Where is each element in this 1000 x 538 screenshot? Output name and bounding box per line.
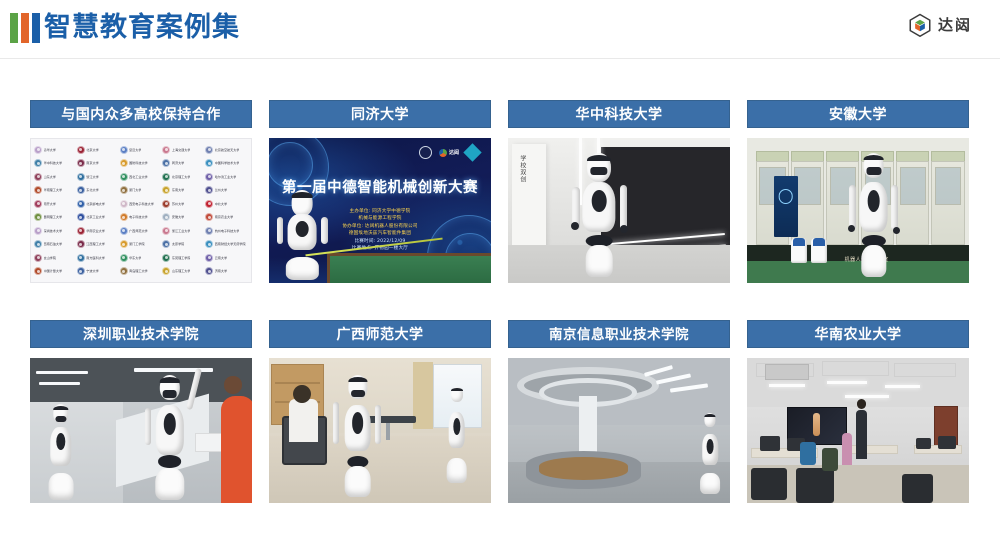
university-seal-icon — [120, 146, 128, 154]
university-name: 北京航空航天大学 — [215, 148, 240, 152]
university-logo-item: 宁波大学 — [77, 265, 120, 279]
robot-arm-left — [277, 217, 283, 244]
university-name: 济南大学 — [215, 269, 227, 273]
university-seal-icon — [120, 200, 128, 208]
university-seal-icon — [34, 213, 42, 221]
university-name: 昆明理工大学 — [44, 215, 63, 219]
university-logo-item: 浙江大学 — [77, 170, 120, 184]
university-name: 深圳技术大学 — [44, 229, 63, 233]
lab-roll-up-banner — [774, 176, 798, 237]
university-logo-item: 浙江工业大学 — [162, 224, 205, 238]
university-seal-icon — [205, 146, 213, 154]
university-logo-item: 南开大学 — [34, 197, 77, 211]
university-logo-item: 东北大学 — [77, 184, 120, 198]
robot-arm-right — [321, 217, 327, 244]
case-card-njcit[interactable]: 南京信息职业技术学院 — [508, 320, 730, 503]
university-seal-icon — [77, 267, 85, 275]
university-seal-icon — [205, 240, 213, 248]
university-logo-item: 上海交通大学 — [162, 143, 205, 157]
case-card-gxnu[interactable]: 广西师范大学 — [269, 320, 491, 503]
university-logo-item: 厦门大学 — [120, 184, 163, 198]
robot-chest-light — [296, 221, 309, 237]
university-seal-icon — [77, 213, 85, 221]
university-seal-icon — [162, 159, 170, 167]
university-name: 山东大学 — [44, 175, 56, 179]
university-name: 中国计量大学 — [44, 269, 63, 273]
university-logo-item: 山东理工大学 — [162, 265, 205, 279]
university-seal-icon — [205, 173, 213, 181]
university-logo-item: 太原学院 — [162, 238, 205, 252]
cloudminds-logo-icon: 达闼 — [439, 149, 459, 157]
university-name: 西南石油大学 — [44, 242, 63, 246]
robot-chest-light — [867, 190, 880, 212]
university-name: 江西理工大学 — [86, 242, 105, 246]
robot-arm-right — [891, 185, 897, 230]
university-logo-item: 电子科技大学 — [120, 211, 163, 225]
card-media-szpt — [30, 358, 252, 503]
robot-left — [39, 404, 82, 500]
robot-hand-left — [848, 225, 855, 232]
seated-student-1 — [800, 442, 816, 465]
university-name: 中国科学技术大学 — [215, 161, 240, 165]
university-logo-item: 中国计量大学 — [34, 265, 77, 279]
work-table — [195, 433, 223, 452]
university-seal-icon — [162, 213, 170, 221]
university-logo-item: 广西师范大学 — [120, 224, 163, 238]
university-logo-item: 西南石油大学 — [34, 238, 77, 252]
university-logo-item: 兰州大学 — [205, 184, 248, 198]
university-seal-icon — [77, 227, 85, 235]
small-robot-1 — [791, 238, 807, 263]
university-name: 宁波大学 — [86, 269, 98, 273]
university-seal-icon — [120, 213, 128, 221]
university-logo-item: 西安电子科技大学 — [120, 197, 163, 211]
university-seal-icon — [205, 227, 213, 235]
university-name: 东南大学 — [172, 188, 184, 192]
university-seal-icon — [162, 227, 170, 235]
university-logo-item: 华东大学 — [120, 251, 163, 265]
university-seal-icon — [34, 159, 42, 167]
standing-presenter — [856, 410, 867, 459]
university-seal-icon — [120, 159, 128, 167]
robot-arm-left — [849, 185, 855, 230]
robot-visor — [162, 390, 177, 397]
robot-legs — [586, 245, 613, 277]
university-logo-item: 杭州电子科技大学 — [205, 224, 248, 238]
university-seal-icon — [205, 254, 213, 262]
university-name: 文山学院 — [44, 256, 56, 260]
university-name: 南京大学 — [86, 161, 98, 165]
university-logo-item: 北京大学 — [77, 143, 120, 157]
university-seal-icon — [205, 213, 213, 221]
university-name: 北京邮电大学 — [86, 202, 105, 206]
university-name: 北京大学 — [86, 148, 98, 152]
right-photo-panel — [123, 358, 252, 503]
card-title-hust: 华中科技大学 — [508, 100, 730, 128]
robot-visor — [866, 167, 881, 174]
case-card-ahu[interactable]: 安徽大学 机器人运动 — [747, 100, 969, 283]
robot-waist — [158, 455, 182, 467]
university-seal-icon — [162, 146, 170, 154]
university-name: 北京理工大学 — [172, 175, 191, 179]
hexagon-cube-logo-icon — [908, 13, 932, 37]
card-media-ahu: 机器人运动实验室 — [747, 138, 969, 283]
university-name: 电子科技大学 — [129, 215, 148, 219]
university-logo-item: 安徽大学 — [162, 211, 205, 225]
robot-base — [155, 468, 184, 500]
university-seal-icon — [77, 159, 85, 167]
university-logo-item: 复旦大学 — [120, 143, 163, 157]
university-name: 西南财经大学天府学院 — [215, 242, 246, 246]
university-name: 华中科技大学 — [44, 161, 63, 165]
card-media-njcit — [508, 358, 730, 503]
university-seal-icon — [77, 240, 85, 248]
university-logo-item: 华南农业大学 — [77, 224, 120, 238]
card-media-partners: 清华大学北京大学复旦大学上海交通大学北京航空航天大学华中科技大学南京大学国防科技… — [30, 138, 252, 283]
university-seal-icon — [205, 200, 213, 208]
brand-name: 达闼 — [938, 13, 972, 37]
university-name: 兰州大学 — [215, 188, 227, 192]
university-logo-item: 北京航空航天大学 — [205, 143, 248, 157]
university-logo-item: 中北大学 — [205, 197, 248, 211]
robot-in-lab-image: 机器人运动实验室 — [747, 138, 969, 283]
university-logo-item: 清华大学 — [34, 143, 77, 157]
two-robots-lab-image — [30, 358, 252, 503]
card-media-gxnu — [269, 358, 491, 503]
accent-bar-green — [10, 13, 18, 43]
university-name: 杭州电子科技大学 — [215, 229, 240, 233]
hallway-robot — [566, 153, 633, 278]
university-logo-item: 苏州大学 — [162, 197, 205, 211]
atrium-robot — [694, 413, 725, 494]
university-logo-item: 同济大学 — [162, 157, 205, 171]
university-name: 山东理工大学 — [172, 269, 191, 273]
poster-robot — [273, 190, 331, 280]
card-media-hust: 学校双创 — [508, 138, 730, 283]
case-card-scau[interactable]: 华南农业大学 — [747, 320, 969, 503]
slide-page: 智慧教育案例集 达闼 与国内众多高校保持合作 清华大学北京大学复旦大学上海交通大… — [0, 0, 1000, 538]
university-logo-item: 青岛理工大学 — [120, 265, 163, 279]
university-name: 东北大学 — [86, 188, 98, 192]
university-seal-icon — [162, 240, 170, 248]
university-name: 南方医科大学 — [86, 256, 105, 260]
card-title-scau: 华南农业大学 — [747, 320, 969, 348]
chair-front-left — [751, 468, 787, 500]
university-seal-icon — [34, 186, 42, 194]
robot-hand-right — [893, 227, 900, 234]
university-seal-icon — [120, 267, 128, 275]
robot-head — [704, 413, 715, 427]
university-name: 华东大学 — [129, 256, 141, 260]
robot-head — [451, 387, 463, 402]
university-logo-item: 国防科技大学 — [120, 157, 163, 171]
university-logo-wall: 清华大学北京大学复旦大学上海交通大学北京航空航天大学华中科技大学南京大学国防科技… — [30, 138, 252, 283]
university-seal-icon — [205, 186, 213, 194]
monitor-4 — [916, 438, 932, 450]
university-logo-item: 东南大学 — [162, 184, 205, 198]
university-name: 西北工业大学 — [129, 175, 148, 179]
monitor-1 — [760, 436, 780, 451]
card-title-gxnu: 广西师范大学 — [269, 320, 491, 348]
robot-in-hallway-image: 学校双创 — [508, 138, 730, 283]
university-name: 安徽大学 — [172, 215, 184, 219]
university-seal-icon — [120, 254, 128, 262]
robot-background — [440, 387, 473, 483]
robot-base — [700, 473, 720, 494]
card-title-partners: 与国内众多高校保持合作 — [30, 100, 252, 128]
university-seal-icon — [162, 186, 170, 194]
partner-diamond-logo-icon — [463, 143, 481, 161]
university-seal-icon — [120, 173, 128, 181]
university-name: 南京农业大学 — [215, 215, 234, 219]
seated-student — [289, 399, 318, 443]
university-logo-item: 厦门工学院 — [120, 238, 163, 252]
air-conditioner-vent — [765, 364, 809, 380]
university-logo-item: 哈尔滨工业大学 — [205, 170, 248, 184]
university-name: 哈尔滨工业大学 — [215, 175, 237, 179]
university-name: 浙江大学 — [86, 175, 98, 179]
desk-row-mid — [845, 445, 898, 454]
page-header: 智慧教育案例集 达闼 — [0, 0, 1000, 58]
university-name: 华南理工大学 — [44, 188, 63, 192]
university-name: 北京工业大学 — [86, 215, 105, 219]
card-title-tongji: 同济大学 — [269, 100, 491, 128]
tongji-seal-icon — [419, 146, 432, 159]
university-logo-item: 西南财经大学天府学院 — [205, 238, 248, 252]
accent-bars — [10, 13, 40, 43]
university-logo-item: 西北工业大学 — [120, 170, 163, 184]
robot-visor — [590, 167, 607, 174]
robot-base — [286, 257, 318, 280]
university-logo-item: 北京邮电大学 — [77, 197, 120, 211]
wooden-counter — [539, 457, 628, 480]
brand-logo: 达闼 — [908, 13, 972, 37]
university-logo-item: 南方医科大学 — [77, 251, 120, 265]
robot-arm-right — [375, 405, 381, 444]
university-seal-icon — [34, 254, 42, 262]
university-seal-icon — [77, 146, 85, 154]
university-name: 中北大学 — [215, 202, 227, 206]
ceiling-light-panels — [641, 367, 721, 402]
university-name: 上海交通大学 — [172, 148, 191, 152]
accent-bar-orange — [21, 13, 29, 43]
university-name: 华南农业大学 — [86, 229, 105, 233]
robot-chest-light — [352, 412, 364, 434]
computer-classroom-image — [747, 358, 969, 503]
university-seal-icon — [34, 227, 42, 235]
robot-chest-light — [707, 439, 714, 454]
university-name: 复旦大学 — [129, 148, 141, 152]
university-logo-item: 南京农业大学 — [205, 211, 248, 225]
university-name: 东莞理工学院 — [172, 256, 191, 260]
university-name: 浙江工业大学 — [172, 229, 191, 233]
university-seal-icon — [77, 254, 85, 262]
child-attendee — [842, 433, 852, 465]
ceiling — [30, 358, 123, 402]
university-logo-item: 深圳技术大学 — [34, 224, 77, 238]
university-seal-icon — [205, 267, 213, 275]
case-card-grid: 与国内众多高校保持合作 清华大学北京大学复旦大学上海交通大学北京航空航天大学华中… — [30, 100, 970, 503]
university-name: 厦门工学院 — [129, 242, 144, 246]
robot-legs — [861, 245, 886, 277]
university-seal-icon — [120, 186, 128, 194]
university-logo-item: 昆明理工大学 — [34, 211, 77, 225]
competition-poster-image: 达闼 第一届中德智能机械创新大赛 主办单位: 同济大学中德学院 机械与能源工程学… — [269, 138, 491, 283]
university-seal-icon — [120, 227, 128, 235]
case-card-szpt[interactable]: 深圳职业技术学院 — [30, 320, 252, 503]
university-logo-item: 中国科学技术大学 — [205, 157, 248, 171]
robot-base — [344, 466, 371, 498]
university-name: 西安电子科技大学 — [129, 202, 154, 206]
university-logo-item: 北京工业大学 — [77, 211, 120, 225]
university-seal-icon — [162, 200, 170, 208]
left-photo-panel — [30, 358, 123, 503]
university-seal-icon — [120, 240, 128, 248]
university-name: 厦门大学 — [129, 188, 141, 192]
university-name: 苏州大学 — [172, 202, 184, 206]
university-logo-item: 北京理工大学 — [162, 170, 205, 184]
hallway-vertical-caption: 学校双创 — [517, 155, 526, 183]
small-robot-2 — [811, 238, 827, 263]
university-seal-icon — [162, 173, 170, 181]
header-divider — [0, 58, 1000, 59]
card-media-scau — [747, 358, 969, 503]
university-name: 国防科技大学 — [129, 161, 148, 165]
university-logo-item: 济南大学 — [205, 265, 248, 279]
robot-head — [292, 190, 313, 215]
card-title-szpt: 深圳职业技术学院 — [30, 320, 252, 348]
university-name: 清华大学 — [44, 148, 56, 152]
billiard-table — [327, 253, 491, 283]
university-seal-icon — [162, 267, 170, 275]
robots-in-classroom-image — [269, 358, 491, 503]
robot-arm-right — [620, 185, 627, 230]
robot-arm-left — [145, 408, 151, 445]
university-name: 青岛理工大学 — [129, 269, 148, 273]
lab-robot — [845, 153, 903, 278]
robot-foreground — [331, 375, 384, 497]
university-logo-item: 江西理工大学 — [77, 238, 120, 252]
university-seal-icon — [77, 186, 85, 194]
chair-front-right — [902, 474, 933, 503]
robot-right — [141, 375, 198, 500]
university-logo-item: 南京大学 — [77, 157, 120, 171]
university-seal-icon — [162, 254, 170, 262]
curtain — [413, 362, 433, 429]
card-title-ahu: 安徽大学 — [747, 100, 969, 128]
university-seal-icon — [34, 200, 42, 208]
poster-logo-row: 达闼 — [419, 146, 479, 159]
page-title: 智慧教育案例集 — [44, 8, 240, 48]
university-logo-item: 云南大学 — [205, 251, 248, 265]
robot-base — [446, 458, 467, 483]
university-seal-icon — [205, 159, 213, 167]
university-logo-item: 华中科技大学 — [34, 157, 77, 171]
university-name: 同济大学 — [172, 161, 184, 165]
chair-front-mid — [796, 468, 834, 503]
case-card-tongji[interactable]: 同济大学 达闼 第一届中德智能机械创新大赛 主办单位: 同济大学中德学院 — [269, 100, 491, 283]
university-seal-icon — [34, 173, 42, 181]
university-logo-item: 东莞理工学院 — [162, 251, 205, 265]
university-seal-icon — [34, 267, 42, 275]
robot-chest-light — [592, 190, 607, 212]
university-logo-item: 山东大学 — [34, 170, 77, 184]
accent-bar-blue — [32, 13, 40, 43]
university-name: 南开大学 — [44, 202, 56, 206]
case-card-hust[interactable]: 华中科技大学 学校双创 — [508, 100, 730, 283]
university-logo-item: 文山学院 — [34, 251, 77, 265]
university-name: 太原学院 — [172, 242, 184, 246]
card-title-njcit: 南京信息职业技术学院 — [508, 320, 730, 348]
university-logo-item: 华南理工大学 — [34, 184, 77, 198]
case-card-partners[interactable]: 与国内众多高校保持合作 清华大学北京大学复旦大学上海交通大学北京航空航天大学华中… — [30, 100, 252, 283]
robot-visor — [55, 416, 66, 422]
university-name: 广西师范大学 — [129, 229, 148, 233]
university-seal-icon — [77, 173, 85, 181]
university-seal-icon — [34, 146, 42, 154]
university-seal-icon — [77, 200, 85, 208]
person-orange-shirt — [221, 396, 252, 503]
robot-arm-left — [333, 402, 339, 443]
robot-visor — [351, 390, 365, 397]
university-name: 云南大学 — [215, 256, 227, 260]
robot-hand-right — [620, 225, 628, 233]
university-seal-icon — [34, 240, 42, 248]
card-media-tongji: 达闼 第一届中德智能机械创新大赛 主办单位: 同济大学中德学院 机械与能源工程学… — [269, 138, 491, 283]
monitor-3 — [938, 436, 956, 449]
seated-student-2 — [822, 448, 838, 471]
robot-in-atrium-image — [508, 358, 730, 503]
robot-base — [48, 473, 73, 500]
